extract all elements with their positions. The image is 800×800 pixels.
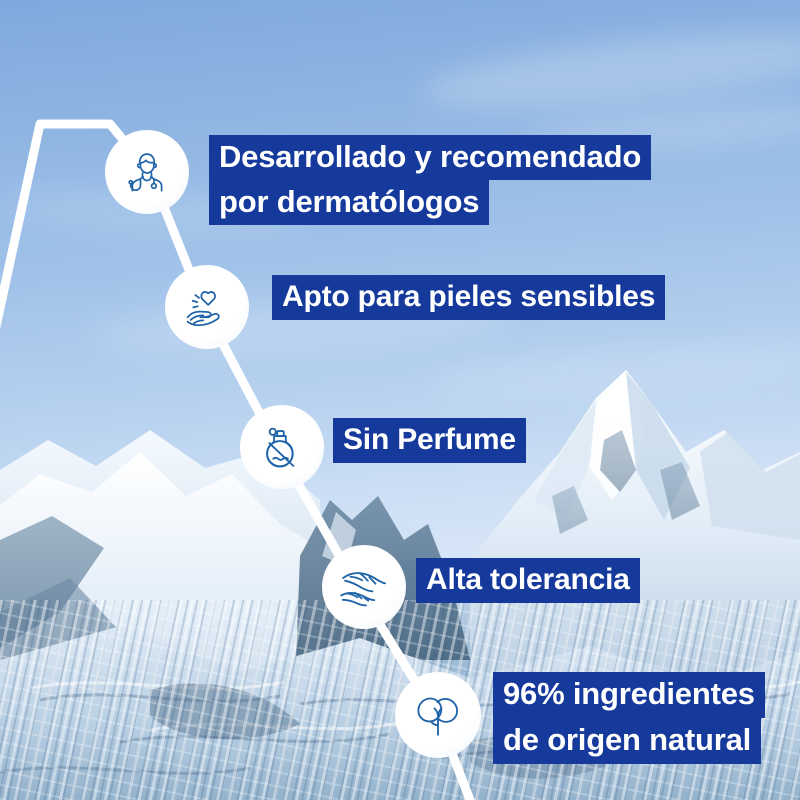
benefit-label-dermatologist: Desarrollado y recomendado por dermatólo… xyxy=(209,135,651,225)
leaf-plant-icon xyxy=(410,687,466,743)
benefit-bubble-dermatologist[interactable] xyxy=(105,130,189,214)
benefit-label-line: por dermatólogos xyxy=(209,180,489,225)
benefit-label-line: Apto para pieles sensibles xyxy=(272,275,665,320)
benefit-label-line: Alta tolerancia xyxy=(416,558,640,603)
hand-feather-icon xyxy=(336,559,392,615)
benefit-bubble-high-tolerance[interactable] xyxy=(322,545,406,629)
hand-heart-icon xyxy=(180,280,234,334)
benefit-label-fragrance-free: Sin Perfume xyxy=(333,418,526,463)
benefit-label-line: Desarrollado y recomendado xyxy=(209,135,651,180)
infographic-canvas: Desarrollado y recomendado por dermatólo… xyxy=(0,0,800,800)
benefit-label-sensitive-skin: Apto para pieles sensibles xyxy=(272,275,665,320)
benefit-bubble-sensitive-skin[interactable] xyxy=(165,265,249,349)
benefit-label-natural-origin: 96% ingredientes de origen natural xyxy=(493,672,765,764)
benefit-label-high-tolerance: Alta tolerancia xyxy=(416,558,640,603)
benefit-bubble-fragrance-free[interactable] xyxy=(240,405,324,489)
benefit-bubble-natural-origin[interactable] xyxy=(395,672,481,758)
benefit-label-line: de origen natural xyxy=(493,718,761,764)
doctor-stethoscope-icon xyxy=(121,146,173,198)
benefit-label-line: 96% ingredientes xyxy=(493,672,765,718)
benefit-label-line: Sin Perfume xyxy=(333,418,526,463)
no-perfume-icon xyxy=(254,419,310,475)
